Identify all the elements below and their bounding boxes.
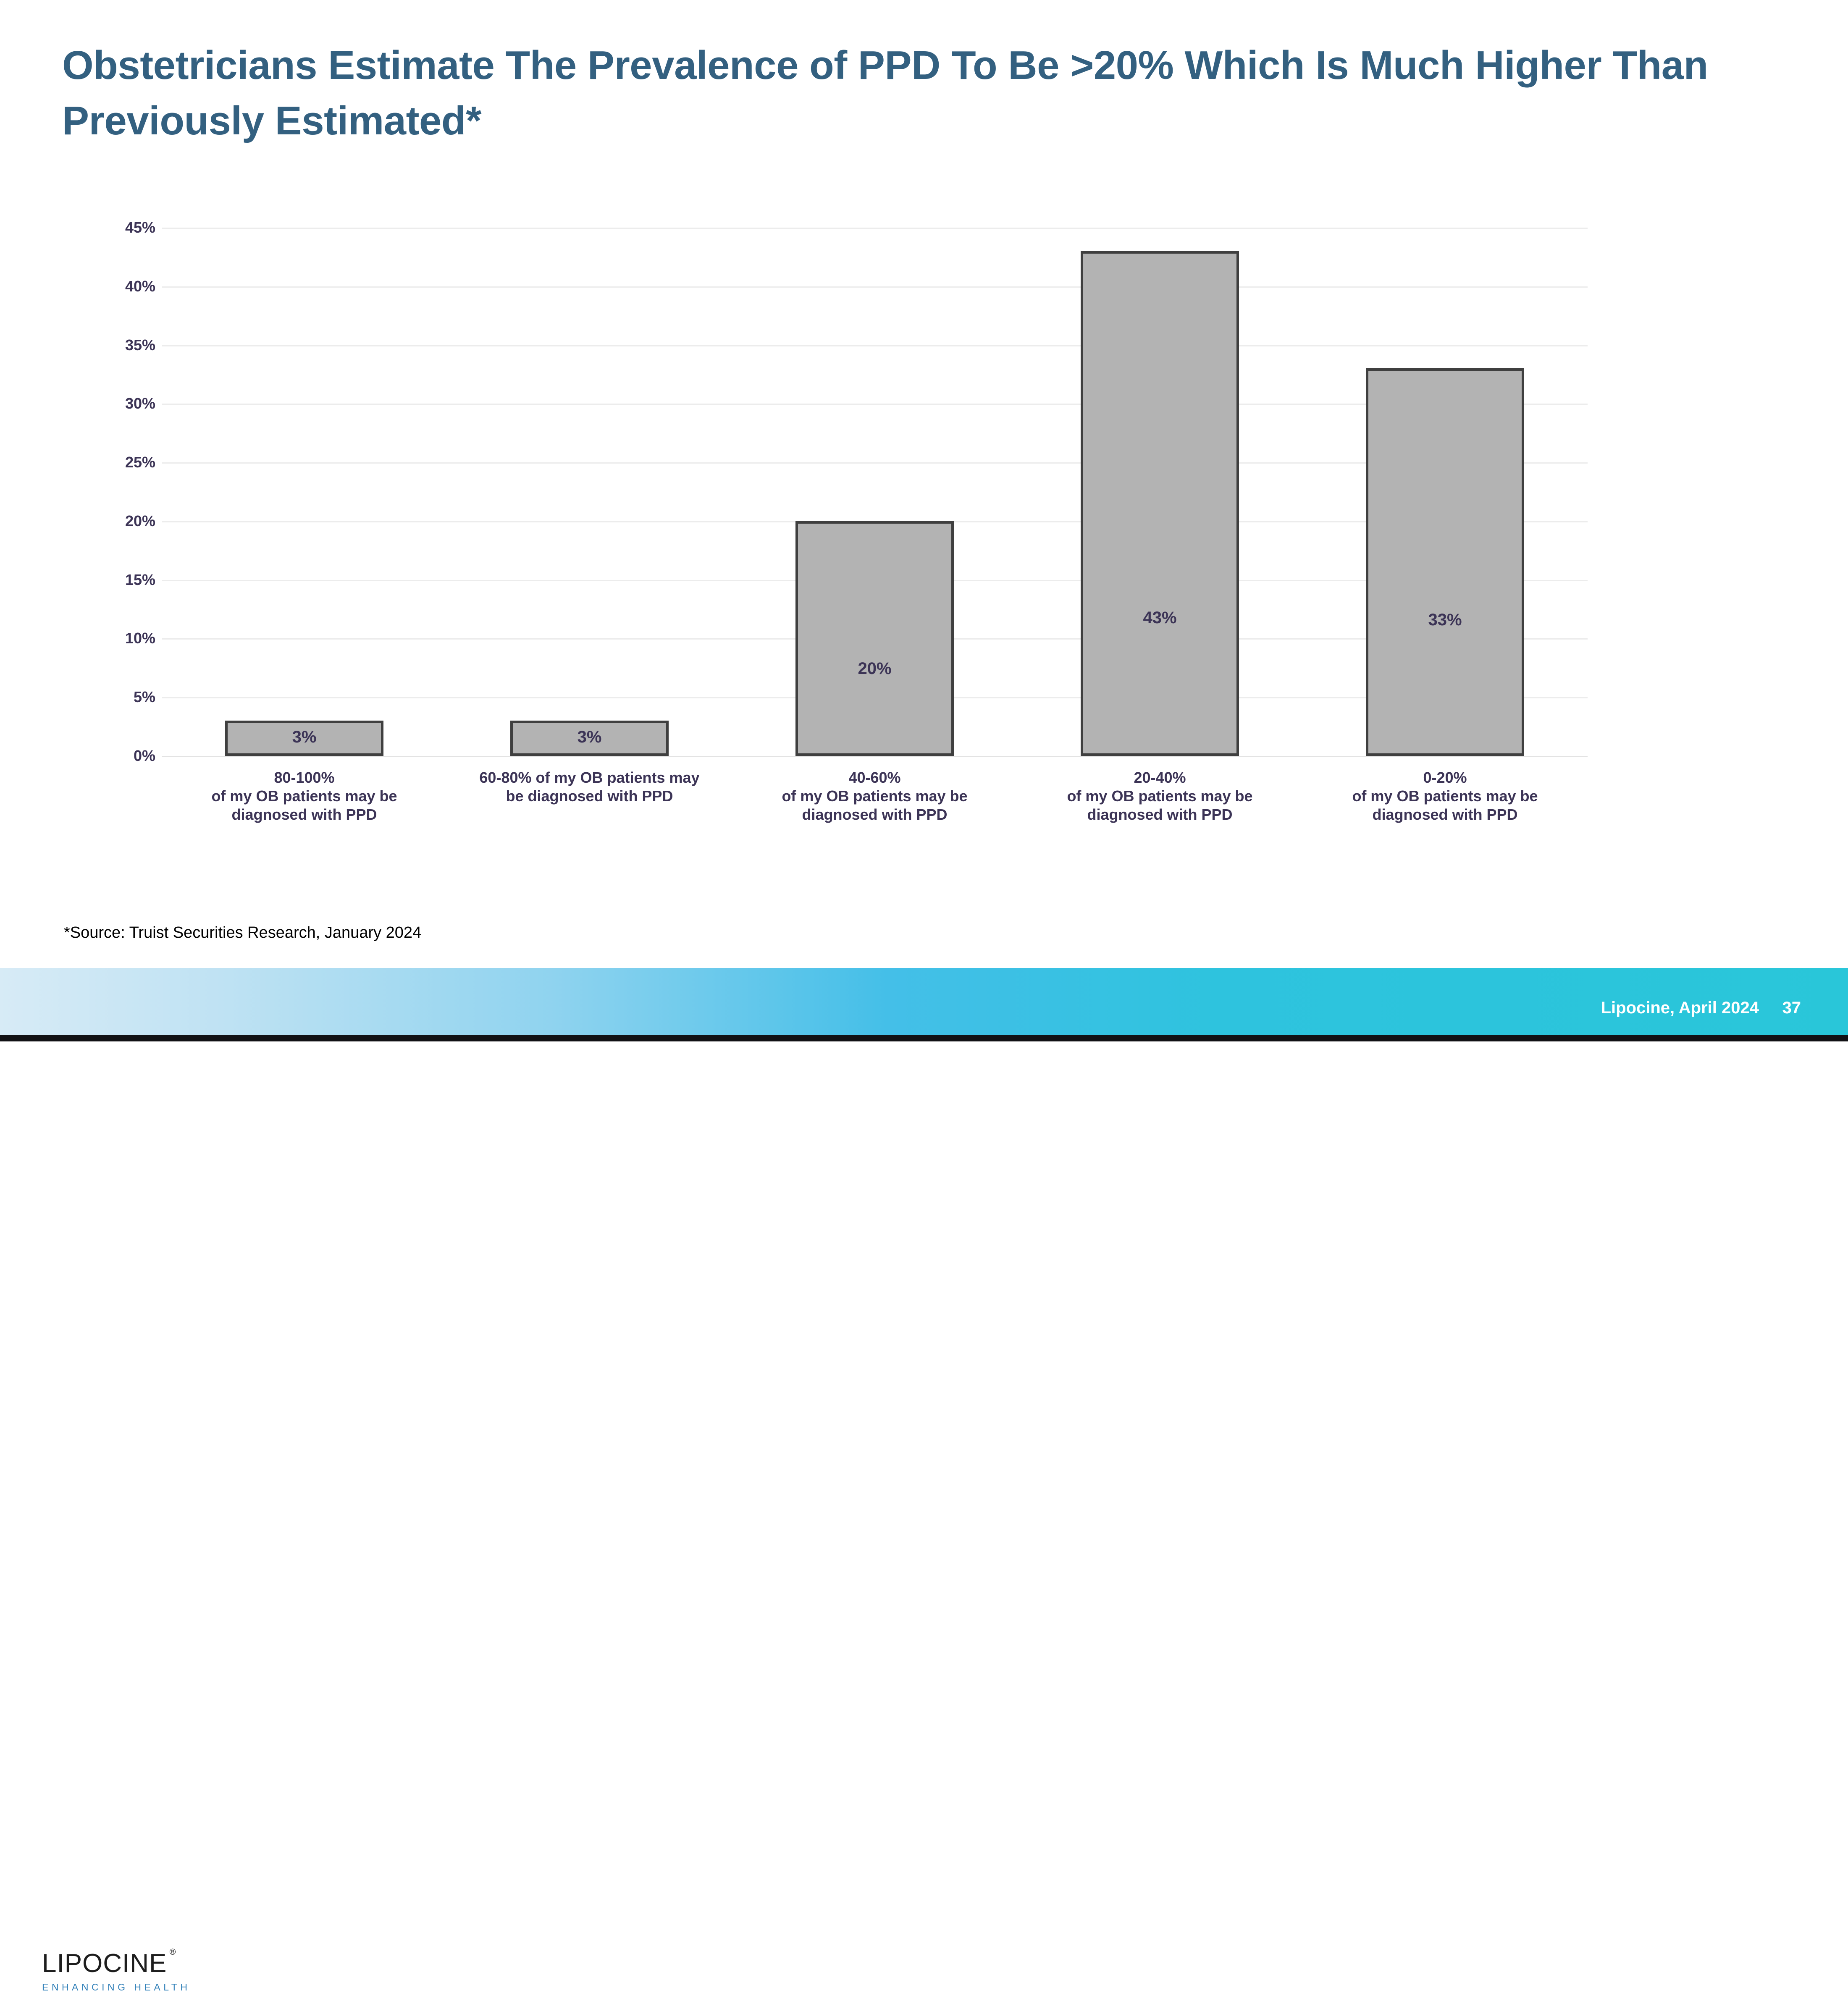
source-note: *Source: Truist Securities Research, Jan… [64, 924, 421, 942]
gridline [162, 345, 1588, 346]
x-axis-category-label: 20-40%of my OB patients may bediagnosed … [1017, 768, 1302, 824]
category-label-line: 20-40% [1017, 768, 1302, 787]
logo-wordmark-text: LIPOCINE® [42, 1951, 167, 1977]
gridline [162, 286, 1588, 288]
footer-meta-text: Lipocine, April 2024 [1601, 999, 1759, 1017]
registered-trademark-icon: ® [170, 1948, 176, 1956]
category-label-line: 60-80% of my OB patients may [447, 768, 732, 787]
y-axis-tick-label: 10% [111, 629, 155, 647]
category-label-line: of my OB patients may be [732, 787, 1017, 805]
category-label-line: diagnosed with PPD [1017, 805, 1302, 824]
gridline [162, 228, 1588, 229]
bar-value-label: 3% [513, 728, 666, 747]
footer-bar: LIPOCINE® ENHANCING HEALTH [0, 968, 1848, 1035]
page-number: 37 [1782, 999, 1801, 1017]
bar-chart: 45%40%35%30%25%20%15%10%5%0% 3%3%20%43%3… [0, 0, 1848, 890]
x-axis-category-label: 80-100%of my OB patients may bediagnosed… [162, 768, 447, 824]
y-axis-tick-label: 0% [111, 747, 155, 765]
category-label-line: 0-20% [1302, 768, 1588, 787]
plot-area: 3%3%20%43%33% [162, 228, 1588, 756]
category-label-line: diagnosed with PPD [732, 805, 1017, 824]
y-axis-tick-label: 20% [111, 512, 155, 530]
category-label-line: of my OB patients may be [1017, 787, 1302, 805]
gridline [162, 756, 1588, 757]
category-label-line: 40-60% [732, 768, 1017, 787]
x-axis-category-label: 60-80% of my OB patients maybe diagnosed… [447, 768, 732, 805]
y-axis-tick-label: 40% [111, 278, 155, 295]
bar-value-label: 20% [798, 659, 951, 678]
y-axis-tick-label: 35% [111, 336, 155, 354]
y-axis-tick-label: 5% [111, 688, 155, 706]
bar: 43% [1081, 251, 1239, 756]
x-axis-category-labels: 80-100%of my OB patients may bediagnosed… [162, 768, 1588, 861]
category-label-line: diagnosed with PPD [162, 805, 447, 824]
logo-wordmark-label: LIPOCINE [42, 1949, 167, 1978]
logo-tagline: ENHANCING HEALTH [42, 1982, 190, 1993]
x-axis-category-label: 40-60%of my OB patients may bediagnosed … [732, 768, 1017, 824]
x-axis-category-label: 0-20%of my OB patients may bediagnosed w… [1302, 768, 1588, 824]
footer-bottom-rule [0, 1035, 1848, 1041]
category-label-line: of my OB patients may be [1302, 787, 1588, 805]
bar: 33% [1366, 368, 1524, 756]
bar: 3% [510, 721, 669, 756]
category-label-line: be diagnosed with PPD [447, 787, 732, 805]
bar: 20% [795, 521, 954, 756]
y-axis-tick-label: 25% [111, 454, 155, 471]
bar-value-label: 3% [228, 728, 381, 747]
bar-value-label: 43% [1083, 608, 1236, 627]
bar-value-label: 33% [1368, 611, 1522, 629]
category-label-line: of my OB patients may be [162, 787, 447, 805]
y-axis-tick-label: 45% [111, 219, 155, 236]
y-axis: 45%40%35%30%25%20%15%10%5%0% [111, 228, 155, 756]
y-axis-tick-label: 30% [111, 395, 155, 412]
category-label-line: 80-100% [162, 768, 447, 787]
y-axis-tick-label: 15% [111, 571, 155, 589]
category-label-line: diagnosed with PPD [1302, 805, 1588, 824]
lipocine-logo: LIPOCINE® ENHANCING HEALTH [42, 1951, 190, 1993]
bar: 3% [225, 721, 383, 756]
